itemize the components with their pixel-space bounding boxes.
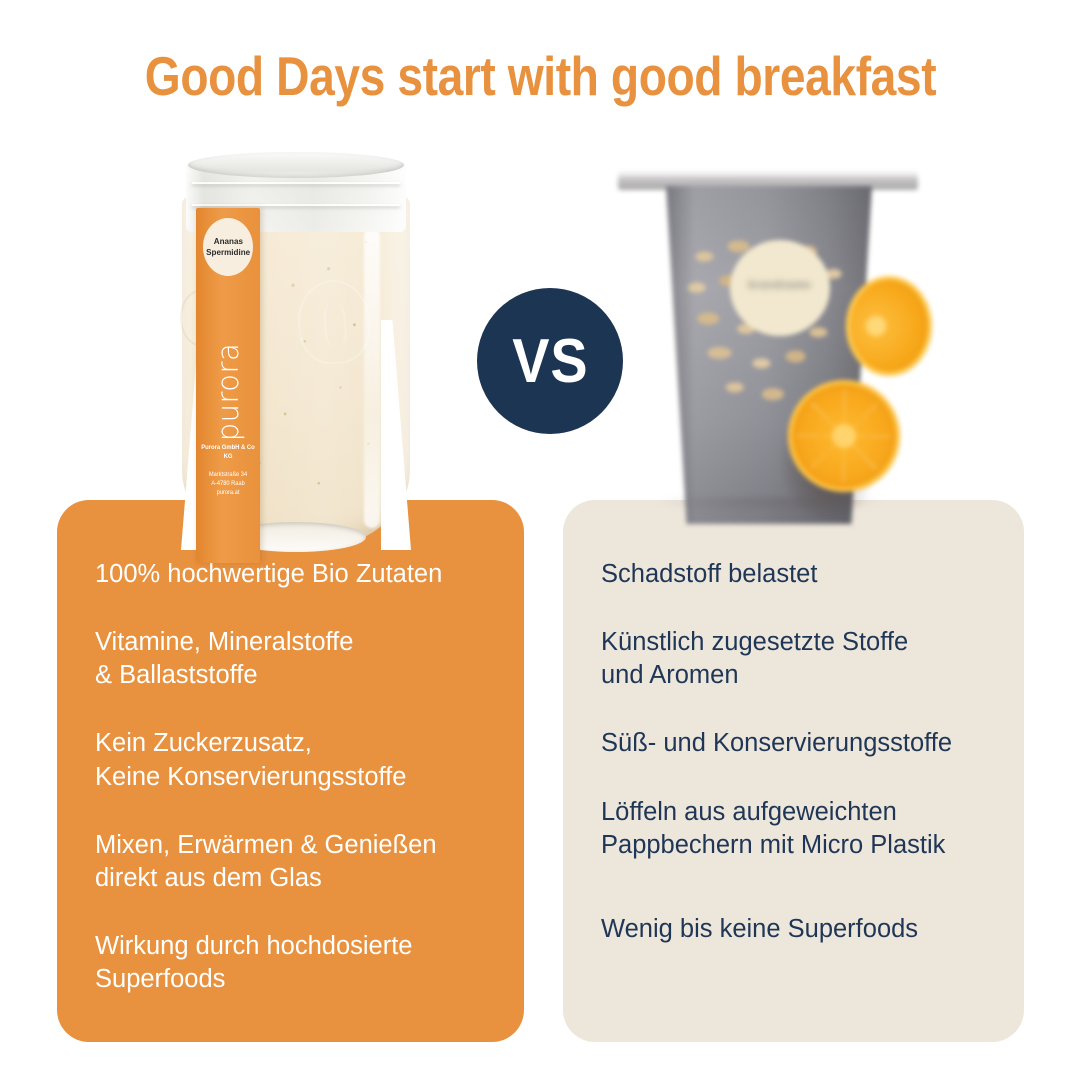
- vs-badge: VS: [477, 288, 623, 434]
- purora-logo-text: purora: [211, 343, 245, 442]
- drawback-item: Künstlich zugesetzte Stoffe und Aromen: [601, 626, 990, 692]
- cup-contact-shadow: [655, 498, 885, 514]
- cup-brand-badge-text: brandname: [730, 280, 830, 291]
- benefit-item: Wirkung durch hochdosierte Superfoods: [95, 930, 490, 996]
- competitor-drawbacks-list: Schadstoff belastet Künstlich zugesetzte…: [601, 558, 990, 946]
- cup-brand-badge: brandname: [730, 240, 830, 336]
- purora-benefits-panel: 100% hochwertige Bio Zutaten Vitamine, M…: [57, 500, 524, 1042]
- orange-slice-small-icon: [846, 276, 932, 376]
- benefit-item: Kein Zuckerzusatz, Keine Konservierungss…: [95, 727, 490, 793]
- drawback-item: Schadstoff belastet: [601, 558, 990, 591]
- drawback-item: Süß- und Konservierungsstoffe: [601, 727, 990, 760]
- drawback-item: Wenig bis keine Superfoods: [601, 913, 990, 946]
- purora-benefits-list: 100% hochwertige Bio Zutaten Vitamine, M…: [95, 558, 490, 996]
- jar-flavor-badge: Ananas Spermidine: [203, 218, 253, 276]
- jar-flavor-line-1: Ananas: [213, 237, 242, 247]
- purora-jar-image: Ananas Spermidine purora Purora GmbH & C…: [168, 150, 426, 550]
- competitor-cup-image: brandname: [618, 168, 918, 528]
- benefit-item: Mixen, Erwärmen & Genießen direkt aus de…: [95, 829, 490, 895]
- jar-rim: [188, 152, 404, 178]
- comparison-graphic: Good Days start with good breakfast Anan…: [0, 0, 1081, 1081]
- vs-badge-label: VS: [512, 326, 588, 397]
- competitor-drawbacks-panel: Schadstoff belastet Künstlich zugesetzte…: [563, 500, 1024, 1042]
- benefit-item: 100% hochwertige Bio Zutaten: [95, 558, 490, 591]
- orange-slice-large-icon: [788, 380, 900, 492]
- drawback-item: Löffeln aus aufgeweichten Pappbechern mi…: [601, 796, 990, 862]
- jar-address-lines: Marktstraße 34 A-4780 Raab purora.at: [198, 471, 259, 498]
- jar-address-company: Purora GmbH & Co KG: [198, 443, 259, 462]
- jar-product-label: Ananas Spermidine purora Purora GmbH & C…: [196, 208, 260, 563]
- jar-highlight: [364, 228, 380, 528]
- page-title: Good Days start with good breakfast: [86, 48, 994, 106]
- benefit-item: Vitamine, Mineralstoffe & Ballaststoffe: [95, 626, 490, 692]
- jar-flavor-line-2: Spermidine: [206, 248, 250, 258]
- jar-address-block: Purora GmbH & Co KG Marktstraße 34 A-478…: [198, 434, 259, 507]
